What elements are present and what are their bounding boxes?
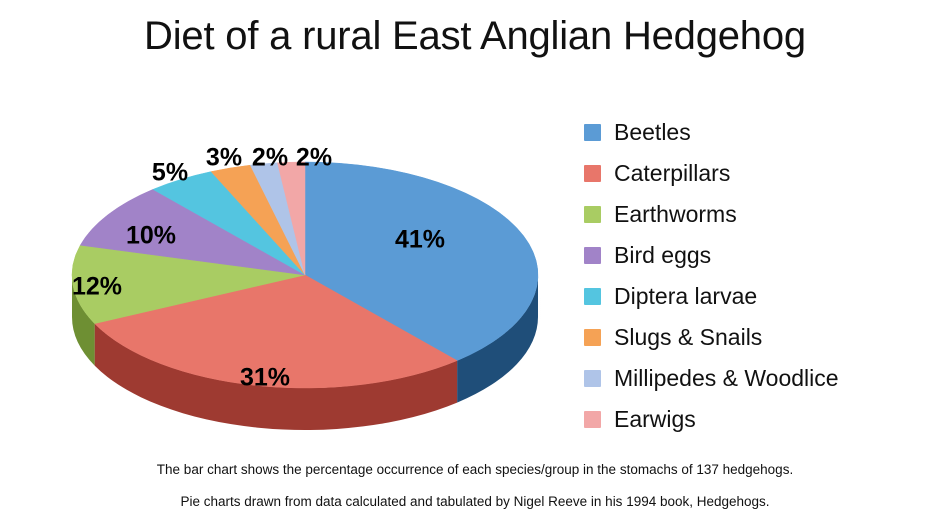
slice-label-slugs-snails: 3% [206,144,242,173]
legend-item-earthworms[interactable]: Earthworms [584,194,934,235]
legend-swatch-icon [584,329,601,346]
legend-item-bird-eggs[interactable]: Bird eggs [584,235,934,276]
legend-swatch-icon [584,411,601,428]
legend-item-diptera-larvae[interactable]: Diptera larvae [584,276,934,317]
slice-label-beetles: 41% [395,226,445,255]
legend-item-label: Diptera larvae [614,285,757,308]
slice-label-earwigs: 2% [296,144,332,173]
legend-item-label: Earthworms [614,203,737,226]
legend-swatch-icon [584,370,601,387]
slice-label-millipedes-woodlice: 2% [252,144,288,173]
legend-item-label: Millipedes & Woodlice [614,367,839,390]
legend-swatch-icon [584,288,601,305]
legend-item-label: Bird eggs [614,244,711,267]
slice-label-caterpillars: 31% [240,364,290,393]
slice-label-bird-eggs: 10% [126,222,176,251]
legend-item-earwigs[interactable]: Earwigs [584,399,934,440]
legend-item-beetles[interactable]: Beetles [584,112,934,153]
slide-canvas: Diet of a rural East Anglian Hedgehog 41… [0,0,950,530]
legend-item-label: Caterpillars [614,162,730,185]
legend-swatch-icon [584,247,601,264]
legend-item-label: Earwigs [614,408,696,431]
legend-item-label: Slugs & Snails [614,326,762,349]
legend-item-slugs-snails[interactable]: Slugs & Snails [584,317,934,358]
chart-legend: Beetles Caterpillars Earthworms Bird egg… [584,112,934,440]
slice-label-diptera-larvae: 5% [152,159,188,188]
legend-swatch-icon [584,206,601,223]
footnote-source-attribution: Pie charts drawn from data calculated an… [0,494,950,509]
pie-chart: 41% 31% 12% 10% 5% 3% 2% 2% [40,95,580,445]
legend-swatch-icon [584,124,601,141]
footnote-bar-chart-description: The bar chart shows the percentage occur… [0,462,950,477]
legend-item-millipedes-woodlice[interactable]: Millipedes & Woodlice [584,358,934,399]
page-title: Diet of a rural East Anglian Hedgehog [0,14,950,59]
slice-label-earthworms: 12% [72,273,122,302]
legend-item-caterpillars[interactable]: Caterpillars [584,153,934,194]
legend-item-label: Beetles [614,121,691,144]
pie-slices [72,162,538,388]
legend-swatch-icon [584,165,601,182]
